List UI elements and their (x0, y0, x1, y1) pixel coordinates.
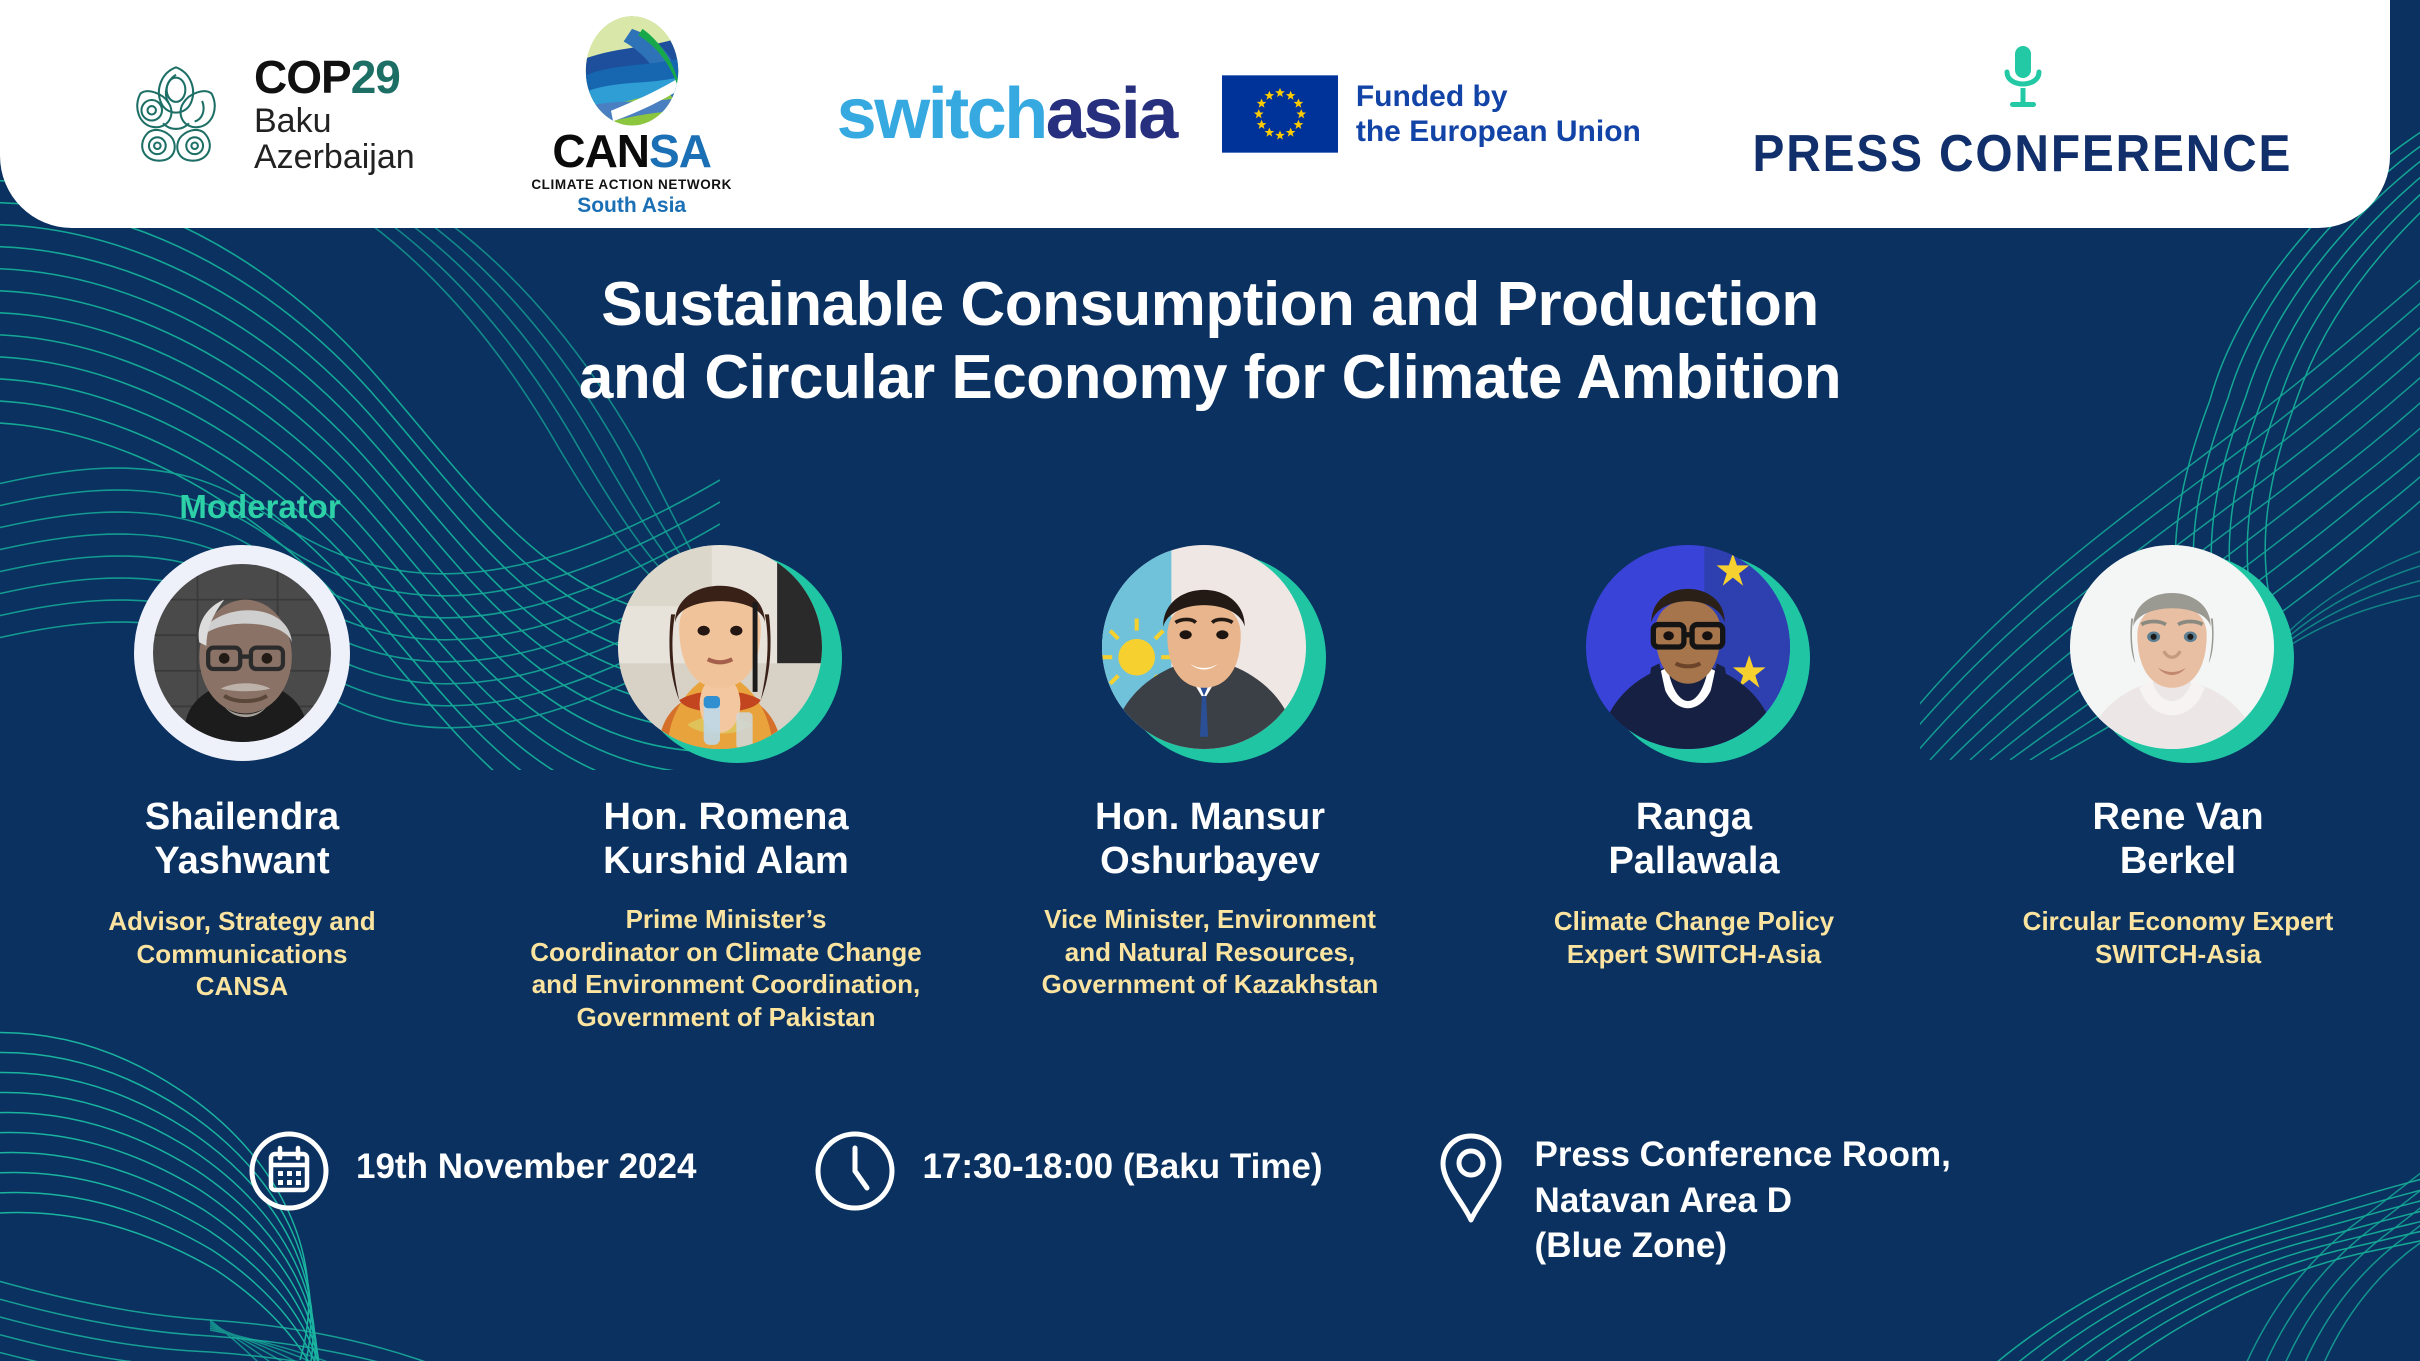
speaker-name: Rene Van Berkel (1946, 795, 2410, 883)
speaker-name: Shailendra Yashwant (10, 795, 474, 883)
portrait-rene-van-berkel (2070, 545, 2274, 749)
cop29-country: Azerbaijan (254, 140, 415, 174)
portrait-mansur-oshurbayev (1102, 545, 1306, 749)
portrait-shailendra-yashwant (153, 564, 331, 742)
speaker-name: Ranga Pallawala (1462, 795, 1926, 883)
eu-funding-line1: Funded by (1356, 79, 1641, 114)
speaker-card-moderator: Shailendra Yashwant Advisor, Strategy an… (0, 545, 484, 1033)
event-location: Press Conference Room, Natavan Area D (B… (1433, 1130, 1951, 1269)
cansa-wordmark: CANSA (527, 130, 737, 174)
speaker-card-1: Hon. Romena Kurshid Alam Prime Minister’… (484, 545, 968, 1033)
event-time: 17:30-18:00 (Baku Time) (814, 1130, 1322, 1212)
event-time-text: 17:30-18:00 (Baku Time) (922, 1130, 1322, 1190)
switchasia-part-itch: itch (928, 74, 1046, 154)
microphone-icon (1998, 44, 2048, 118)
page-title: Sustainable Consumption and Production a… (0, 268, 2420, 414)
speaker-role: Climate Change Policy Expert SWITCH-Asia (1462, 905, 1926, 970)
speaker-card-4: Rene Van Berkel Circular Economy Expert … (1936, 545, 2420, 1033)
speaker-role: Prime Minister’s Coordinator on Climate … (494, 903, 958, 1033)
cop29-logo: COP29 Baku Azerbaijan (120, 54, 415, 174)
event-date: 19th November 2024 (248, 1130, 696, 1212)
cansa-globe-icon (569, 10, 695, 136)
speaker-name: Hon. Romena Kurshid Alam (494, 795, 958, 883)
speaker-role: Vice Minister, Environment and Natural R… (978, 903, 1442, 1001)
cansa-region: South Asia (527, 194, 737, 218)
title-line-2: and Circular Economy for Climate Ambitio… (0, 341, 2420, 414)
press-conference-badge: PRESS CONFERENCE (1729, 44, 2316, 184)
cop29-wordmark: COP29 (254, 54, 415, 100)
portrait-romena-kurshid-alam (618, 545, 822, 749)
avatar (1102, 545, 1318, 761)
clock-icon (814, 1130, 896, 1212)
event-location-text: Press Conference Room, Natavan Area D (B… (1535, 1130, 1951, 1269)
title-line-1: Sustainable Consumption and Production (601, 270, 1819, 339)
moderator-label: Moderator (140, 488, 380, 526)
speaker-role: Circular Economy Expert SWITCH-Asia (1946, 905, 2410, 970)
press-conference-poster: COP29 Baku Azerbaijan (0, 0, 2420, 1361)
avatar (618, 545, 834, 761)
event-date-text: 19th November 2024 (356, 1130, 696, 1190)
switchasia-part-sw: sw (837, 74, 928, 154)
calendar-icon (248, 1130, 330, 1212)
partner-logo-header: COP29 Baku Azerbaijan (0, 0, 2390, 228)
press-conference-label: PRESS CONFERENCE (1753, 124, 2293, 184)
avatar (134, 545, 350, 761)
eu-funding-line2: the European Union (1356, 114, 1641, 149)
cop29-ornament-icon (120, 58, 232, 170)
event-details-bar: 19th November 2024 17:30-18:00 (Baku Tim… (0, 1130, 2420, 1269)
cop29-city: Baku (254, 104, 415, 138)
speaker-card-3: Ranga Pallawala Climate Change Policy Ex… (1452, 545, 1936, 1033)
switchasia-part-asia: asia (1046, 74, 1176, 154)
speaker-name: Hon. Mansur Oshurbayev (978, 795, 1442, 883)
map-pin-icon (1433, 1130, 1509, 1226)
portrait-ranga-pallawala (1586, 545, 1790, 749)
cansa-tagline: CLIMATE ACTION NETWORK (527, 177, 737, 192)
cansa-logo: CANSA CLIMATE ACTION NETWORK South Asia (527, 10, 737, 218)
eu-flag-icon (1222, 75, 1338, 153)
eu-funding-logo: Funded by the European Union (1222, 75, 1641, 153)
speaker-card-2: Hon. Mansur Oshurbayev Vice Minister, En… (968, 545, 1452, 1033)
avatar (2070, 545, 2286, 761)
speaker-list: Shailendra Yashwant Advisor, Strategy an… (0, 545, 2420, 1033)
speaker-role: Advisor, Strategy and Communications CAN… (10, 905, 474, 1003)
switchasia-logo: switchasia (837, 78, 1176, 150)
avatar (1586, 545, 1802, 761)
